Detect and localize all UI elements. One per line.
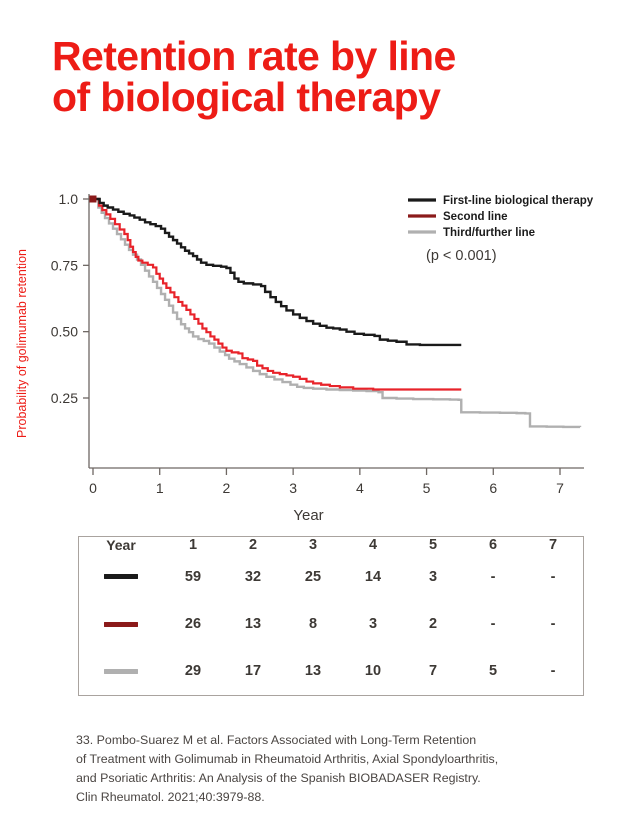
- x-tick-label: 2: [223, 480, 231, 496]
- table-header-row: Year1234567: [79, 537, 583, 553]
- y-axis-title: Probability of golimumab retention: [15, 249, 29, 438]
- y-tick-label: 0.75: [51, 257, 78, 273]
- x-axis-ticks: 01234567: [89, 468, 564, 496]
- table-row: 2917131075-: [79, 648, 583, 695]
- page-title: Retention rate by line of biological the…: [52, 36, 572, 117]
- risk-table-cell: 7: [403, 648, 463, 695]
- risk-table-cell: -: [523, 600, 583, 647]
- risk-table-col-header: 5: [403, 537, 463, 553]
- risk-table-col-header: 6: [463, 537, 523, 553]
- risk-table-col-header: 3: [283, 537, 343, 553]
- risk-table-cell: 25: [283, 553, 343, 600]
- x-tick-label: 5: [423, 480, 431, 496]
- legend-label: Second line: [443, 211, 508, 223]
- risk-table-cell: 29: [163, 648, 223, 695]
- risk-table-cell: 13: [223, 600, 283, 647]
- x-tick-label: 1: [156, 480, 164, 496]
- km-curve-2: [93, 199, 461, 390]
- risk-table-series-swatch-cell: [79, 553, 163, 600]
- risk-table-cell: -: [523, 553, 583, 600]
- km-origin-marker: [90, 196, 97, 203]
- series-color-swatch: [104, 574, 138, 579]
- risk-table-col-header: 4: [343, 537, 403, 553]
- y-tick-label: 0.25: [51, 390, 78, 406]
- risk-table-cell: 32: [223, 553, 283, 600]
- risk-table-head: Year1234567: [79, 537, 583, 553]
- risk-table-col-header: 2: [223, 537, 283, 553]
- risk-table-cell: 8: [283, 600, 343, 647]
- x-tick-label: 3: [289, 480, 297, 496]
- risk-table-cell: 26: [163, 600, 223, 647]
- chart-legend: First-line biological therapySecond line…: [408, 195, 594, 264]
- risk-table-cell: -: [463, 600, 523, 647]
- risk-table-cell: 14: [343, 553, 403, 600]
- risk-table-series-swatch-cell: [79, 600, 163, 647]
- x-tick-label: 7: [556, 480, 564, 496]
- citation-text: 33. Pombo-Suarez M et al. Factors Associ…: [76, 731, 596, 806]
- table-row: 593225143--: [79, 553, 583, 600]
- risk-table-series-swatch-cell: [79, 648, 163, 695]
- risk-table-cell: 10: [343, 648, 403, 695]
- kaplan-meier-chart: 0.250.500.751.001234567YearProbability o…: [0, 160, 624, 530]
- risk-table-cell: 13: [283, 648, 343, 695]
- risk-table-cell: 3: [403, 553, 463, 600]
- x-tick-label: 6: [489, 480, 497, 496]
- legend-label: Third/further line: [443, 227, 535, 239]
- risk-table-cell: 5: [463, 648, 523, 695]
- risk-table-cell: 2: [403, 600, 463, 647]
- table-row: 2613832--: [79, 600, 583, 647]
- p-value-annotation: (p < 0.001): [426, 248, 497, 264]
- y-axis-ticks: 0.250.500.751.0: [51, 191, 89, 406]
- slide-root: Retention rate by line of biological the…: [0, 0, 624, 833]
- y-tick-label: 0.50: [51, 324, 78, 340]
- risk-table-body: 593225143--2613832--2917131075-: [79, 553, 583, 695]
- y-tick-label: 1.0: [59, 191, 79, 207]
- chart-svg: 0.250.500.751.001234567YearProbability o…: [0, 160, 624, 530]
- series-color-swatch: [104, 622, 138, 627]
- x-tick-label: 4: [356, 480, 364, 496]
- risk-table-cell: -: [523, 648, 583, 695]
- legend-label: First-line biological therapy: [443, 195, 594, 207]
- risk-table-cell: 17: [223, 648, 283, 695]
- numbers-at-risk-table: Year1234567 593225143--2613832--29171310…: [78, 536, 584, 696]
- risk-table-year-header: Year: [79, 537, 163, 553]
- risk-table-col-header: 7: [523, 537, 583, 553]
- risk-table-cell: -: [463, 553, 523, 600]
- x-tick-label: 0: [89, 480, 97, 496]
- risk-table-grid: Year1234567 593225143--2613832--29171310…: [79, 537, 583, 695]
- series-color-swatch: [104, 669, 138, 674]
- risk-table-cell: 3: [343, 600, 403, 647]
- risk-table-col-header: 1: [163, 537, 223, 553]
- x-axis-title: Year: [293, 507, 323, 524]
- risk-table-cell: 59: [163, 553, 223, 600]
